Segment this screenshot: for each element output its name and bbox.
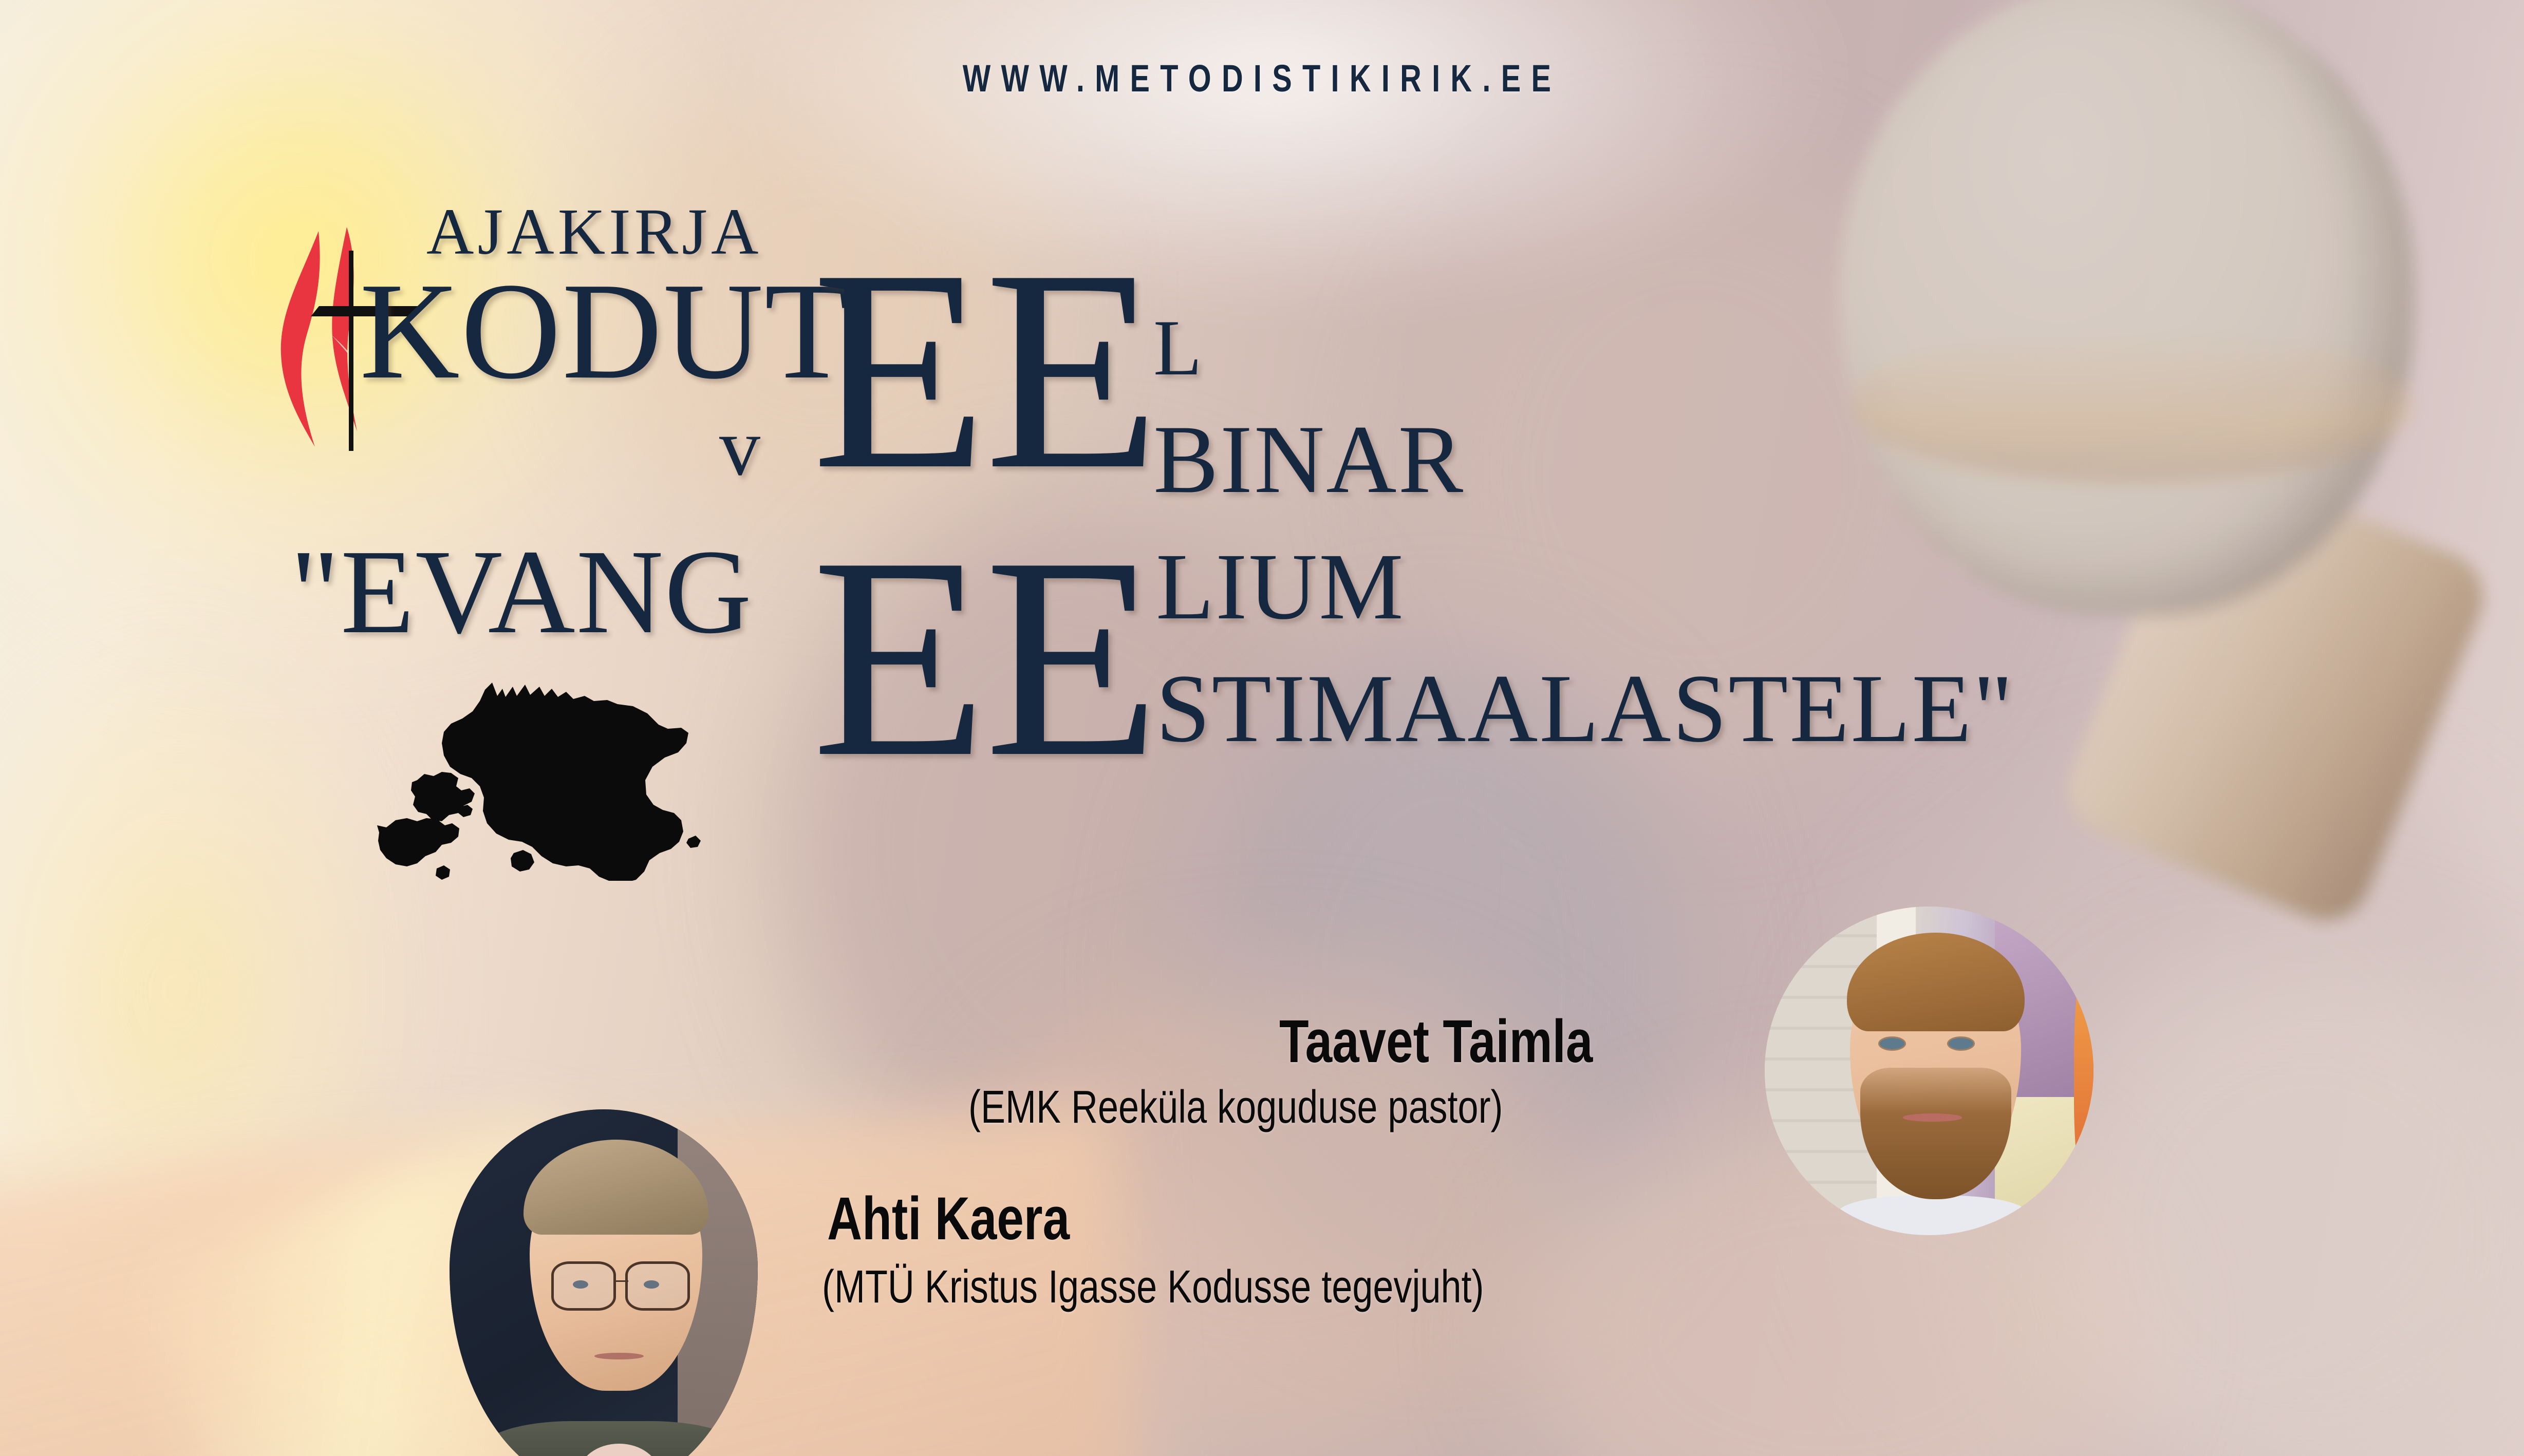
headline-kodut: KODUT [360, 262, 850, 401]
ahti-kaera-portrait [450, 1109, 758, 1456]
portrait-mouth [594, 1353, 644, 1359]
speaker-name: Ahti Kaera [827, 1184, 1070, 1254]
speaker-role: (EMK Reeküla koguduse pastor) [968, 1081, 1503, 1134]
portrait-eye [1949, 1038, 1973, 1049]
headline-big-ee-bottom: EE [812, 514, 1157, 801]
headline-lium: LIUM [1156, 539, 1405, 634]
portrait-eye [1880, 1038, 1904, 1049]
headline-stimaalastele: STIMAALASTELE" [1156, 660, 2014, 758]
headline-binar: BINAR [1153, 411, 1465, 508]
estonia-map-icon [360, 665, 730, 881]
headline-v: v [719, 406, 760, 488]
portrait-background [2074, 966, 2093, 1189]
headline-l: L [1153, 308, 1202, 388]
glasses-icon [625, 1261, 690, 1311]
headline-evang: "EVANG [290, 532, 753, 652]
taavet-taimla-portrait [1765, 906, 2093, 1235]
avatar [450, 1109, 758, 1456]
portrait-shirt [1837, 1196, 2028, 1235]
promo-banner: WWW.METODISTIKIRIK.EE AJAKIRJA KODUT v E… [0, 0, 2524, 1456]
glasses-icon [551, 1261, 616, 1311]
avatar [1765, 906, 2093, 1235]
headline-big-ee-top: EE [812, 226, 1157, 514]
speaker-name: Taavet Taimla [1279, 1007, 1593, 1076]
speaker-role: (MTÜ Kristus Igasse Kodusse tegevjuht) [822, 1261, 1484, 1314]
portrait-mouth [1903, 1113, 1962, 1121]
glasses-icon [616, 1280, 628, 1282]
